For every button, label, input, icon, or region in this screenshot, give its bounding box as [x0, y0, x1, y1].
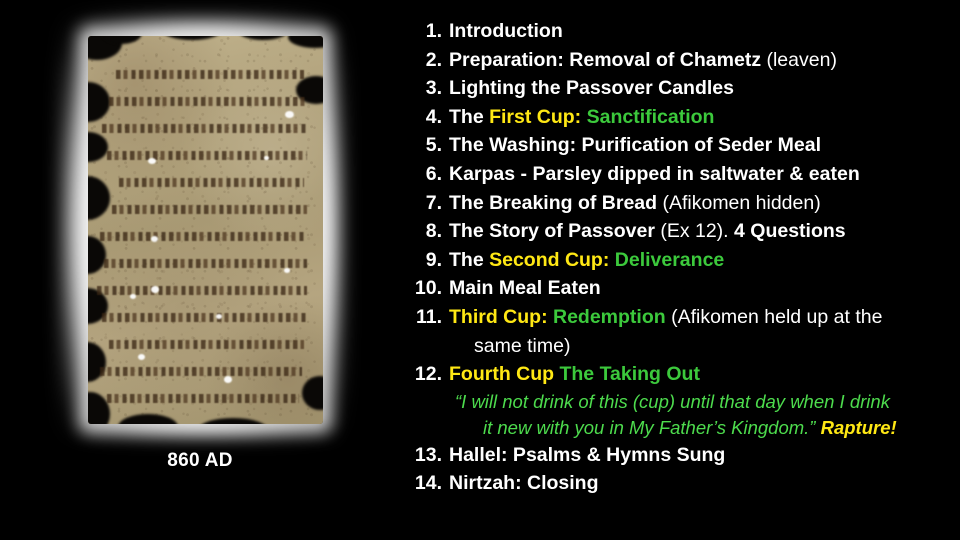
seder-item-number: 11.: [404, 303, 449, 332]
manuscript-ink-line: [100, 232, 307, 241]
seder-item-text-run: Redemption: [553, 306, 666, 328]
manuscript-ink-line: [109, 97, 306, 106]
seder-item-text-run: Second Cup:: [489, 249, 609, 271]
seder-item-text-run: (Afikomen hidden): [662, 192, 820, 214]
parchment-texture: [88, 36, 323, 424]
seder-item-text-run: 4 Questions: [734, 220, 846, 242]
seder-item-text-run: Fourth Cup: [449, 363, 554, 385]
seder-list-item: 12.Fourth Cup The Taking Out“I will not …: [404, 360, 956, 441]
seder-item-text: The Breaking of Bread (Afikomen hidden): [449, 189, 956, 218]
seder-order-list: 1.Introduction2.Preparation: Removal of …: [404, 17, 956, 498]
seder-item-text-run: Preparation: Removal of Chametz: [449, 49, 766, 71]
seder-item-text-run: Third Cup:: [449, 306, 548, 328]
seder-list-item: 14.Nirtzah: Closing: [404, 469, 956, 498]
seder-item-number: 4.: [404, 103, 449, 132]
hebrew-manuscript-fragment: [88, 36, 323, 424]
seder-item-text-run: First Cup:: [489, 106, 581, 128]
quote-line-2-text: it new with you in My Father’s Kingdom.”: [483, 417, 821, 438]
seder-item-text-run: Karpas - Parsley dipped in saltwater & e…: [449, 163, 860, 185]
manuscript-ink-line: [112, 205, 307, 214]
photo-highlight-fleck: [285, 111, 294, 118]
manuscript-ink-line: [97, 286, 306, 295]
seder-item-text: The Second Cup: Deliverance: [449, 246, 956, 275]
manuscript-ink-line: [104, 259, 306, 268]
seder-item-text-run: Lighting the Passover Candles: [449, 77, 734, 99]
seder-item-text-run: Hallel: Psalms & Hymns Sung: [449, 444, 725, 466]
seder-item-text: The Story of Passover (Ex 12). 4 Questio…: [449, 217, 956, 246]
seder-item-text-run: Sanctification: [587, 106, 715, 128]
quote-line-2: it new with you in My Father’s Kingdom.”…: [455, 415, 956, 441]
seder-list-item: 13.Hallel: Psalms & Hymns Sung: [404, 441, 956, 470]
seder-item-text-run: The: [449, 249, 489, 271]
photo-highlight-fleck: [151, 236, 158, 242]
seder-item-text: Third Cup: Redemption (Afikomen held up …: [449, 303, 956, 360]
seder-item-number: 5.: [404, 131, 449, 160]
seder-item-number: 12.: [404, 360, 449, 389]
seder-list-item: 4.The First Cup: Sanctification: [404, 103, 956, 132]
seder-list-item: 10.Main Meal Eaten: [404, 274, 956, 303]
seder-item-text: Karpas - Parsley dipped in saltwater & e…: [449, 160, 956, 189]
seder-item-text-run: The Story of Passover: [449, 220, 660, 242]
photo-highlight-fleck: [284, 268, 290, 273]
seder-item-number: 8.: [404, 217, 449, 246]
seder-list-item: 7.The Breaking of Bread (Afikomen hidden…: [404, 189, 956, 218]
seder-item-text: Nirtzah: Closing: [449, 469, 956, 498]
seder-item-text-run: Nirtzah: Closing: [449, 472, 599, 494]
slide-root: 860 AD 1.Introduction2.Preparation: Remo…: [0, 0, 960, 540]
seder-item-text-run: (Afikomen held up at the: [666, 306, 883, 328]
seder-item-text-run: The Washing: Purification of Seder Meal: [449, 134, 821, 156]
photo-highlight-fleck: [138, 354, 145, 360]
manuscript-ink-line: [102, 313, 306, 322]
manuscript-caption: 860 AD: [0, 450, 400, 472]
seder-list-item: 1.Introduction: [404, 17, 956, 46]
seder-item-text: Introduction: [449, 17, 956, 46]
seder-item-text-run: (Ex 12).: [660, 220, 734, 242]
seder-item-text: Main Meal Eaten: [449, 274, 956, 303]
seder-item-number: 7.: [404, 189, 449, 218]
manuscript-ink-line: [107, 394, 300, 403]
seder-item-text-run: The Taking Out: [559, 363, 699, 385]
seder-item-quote: “I will not drink of this (cup) until th…: [449, 389, 956, 441]
seder-list-item: 3.Lighting the Passover Candles: [404, 74, 956, 103]
seder-item-number: 6.: [404, 160, 449, 189]
seder-item-text-run: Main Meal Eaten: [449, 277, 601, 299]
seder-item-number: 14.: [404, 469, 449, 498]
manuscript-ink-line: [102, 124, 306, 133]
manuscript-ink-line: [116, 70, 304, 79]
seder-list-item: 9.The Second Cup: Deliverance: [404, 246, 956, 275]
photo-highlight-fleck: [224, 376, 232, 383]
seder-item-text: The Washing: Purification of Seder Meal: [449, 131, 956, 160]
seder-item-text-run: Introduction: [449, 20, 563, 42]
seder-item-text: Preparation: Removal of Chametz (leaven): [449, 46, 956, 75]
photo-highlight-fleck: [130, 294, 136, 299]
photo-highlight-fleck: [151, 286, 159, 293]
seder-item-text-run: The Breaking of Bread: [449, 192, 662, 214]
photo-highlight-fleck: [216, 314, 222, 319]
seder-item-text: Lighting the Passover Candles: [449, 74, 956, 103]
seder-list-item: 5.The Washing: Purification of Seder Mea…: [404, 131, 956, 160]
photo-highlight-fleck: [264, 156, 269, 160]
seder-item-number: 1.: [404, 17, 449, 46]
quote-emphasis: Rapture!: [821, 417, 897, 438]
seder-item-text: The First Cup: Sanctification: [449, 103, 956, 132]
manuscript-image-panel: 860 AD: [0, 0, 400, 540]
manuscript-ink-line: [109, 340, 304, 349]
seder-item-text-run: Deliverance: [615, 249, 725, 271]
seder-list-item: 11.Third Cup: Redemption (Afikomen held …: [404, 303, 956, 360]
seder-list-item: 2.Preparation: Removal of Chametz (leave…: [404, 46, 956, 75]
seder-item-number: 2.: [404, 46, 449, 75]
seder-list-item: 8.The Story of Passover (Ex 12). 4 Quest…: [404, 217, 956, 246]
seder-item-number: 9.: [404, 246, 449, 275]
manuscript-ink-line: [100, 367, 302, 376]
seder-item-text-run: The: [449, 106, 489, 128]
seder-item-number: 3.: [404, 74, 449, 103]
seder-item-text-run: (leaven): [766, 49, 836, 71]
photo-highlight-fleck: [148, 158, 156, 164]
seder-item-text: Fourth Cup The Taking Out“I will not dri…: [449, 360, 956, 441]
quote-line-1: “I will not drink of this (cup) until th…: [455, 389, 956, 415]
seder-item-continuation: same time): [449, 332, 956, 361]
seder-item-number: 10.: [404, 274, 449, 303]
seder-list-item: 6.Karpas - Parsley dipped in saltwater &…: [404, 160, 956, 189]
manuscript-ink-line: [119, 178, 305, 187]
seder-item-number: 13.: [404, 441, 449, 470]
seder-item-text: Hallel: Psalms & Hymns Sung: [449, 441, 956, 470]
manuscript-ink-line: [107, 151, 307, 160]
